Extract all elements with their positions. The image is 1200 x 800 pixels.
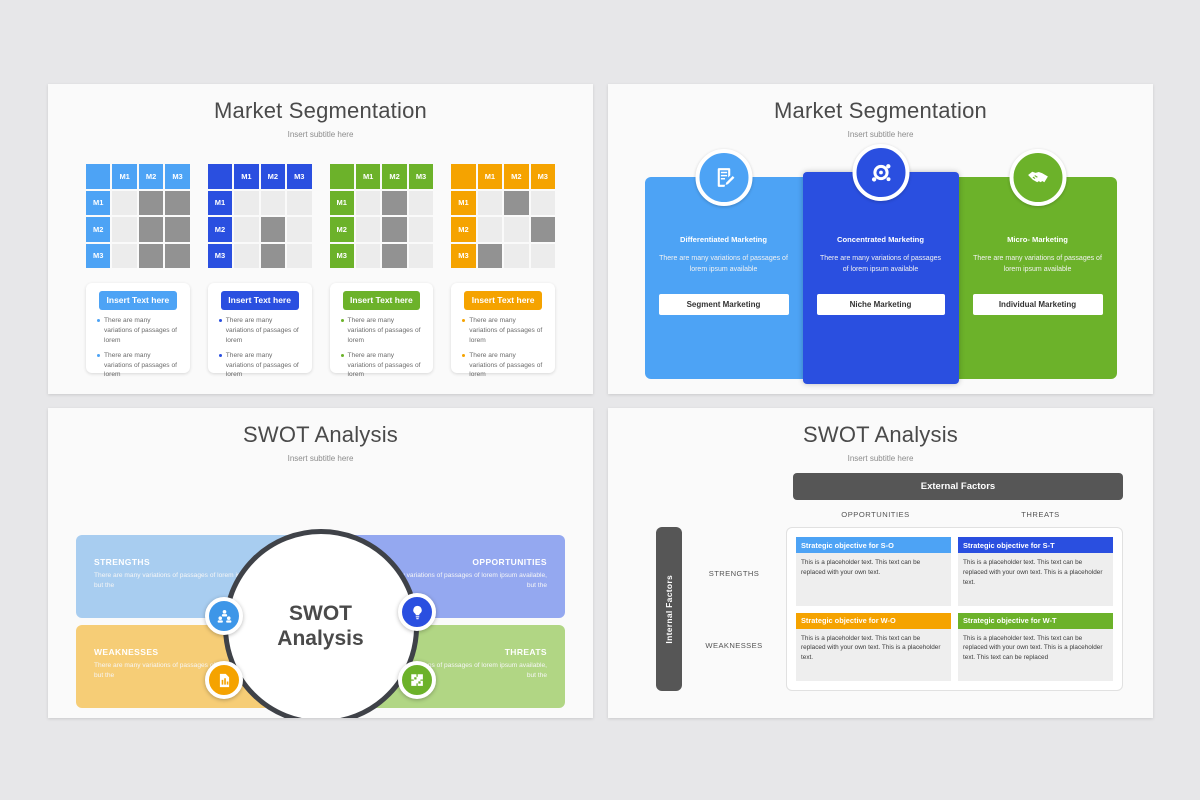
column-heading: Concentrated Marketing (817, 235, 945, 244)
bullet-dot-icon (341, 319, 344, 322)
tows-cell-header: Strategic objective for S-T (958, 537, 1113, 553)
people-group-icon[interactable] (205, 597, 243, 635)
matrix-cell-filled[interactable] (382, 191, 406, 216)
swot-center-circle: SWOT Analysis (223, 529, 419, 718)
lightbulb-target-icon[interactable] (398, 593, 436, 631)
matrix-cell-empty[interactable] (478, 217, 502, 242)
column-description: There are many variations of passages of… (659, 254, 789, 276)
matrix-cell-empty[interactable] (112, 191, 136, 216)
slide-tows-matrix: SWOT Analysis Insert subtitle here Exter… (608, 408, 1153, 718)
matrix-column-header: M3 (287, 164, 311, 189)
matrix-cell-empty[interactable] (409, 244, 433, 269)
bullet-dot-icon (97, 319, 100, 322)
matrix-column-header: M3 (409, 164, 433, 189)
matrix-row-header: M3 (330, 244, 354, 269)
bullet-item: There are many variations of passages of… (97, 316, 179, 346)
page-title: SWOT Analysis (48, 408, 593, 448)
column-heading: Differentiated Marketing (659, 235, 789, 244)
matrix-column-header: M1 (234, 164, 258, 189)
tows-cell-header: Strategic objective for W-O (796, 613, 951, 629)
matrix-cell-empty[interactable] (409, 217, 433, 242)
matrix-column-header: M1 (356, 164, 380, 189)
segmentation-group: M1M2M3M1M2M3Insert Text hereThere are ma… (86, 164, 190, 373)
bullet-item: There are many variations of passages of… (219, 351, 301, 381)
column-pill-button[interactable]: Niche Marketing (817, 294, 945, 315)
matrix-cell-filled[interactable] (165, 191, 189, 216)
page-title: Market Segmentation (608, 84, 1153, 124)
segmentation-group: M1M2M3M1M2M3Insert Text hereThere are ma… (330, 164, 434, 373)
insert-text-button[interactable]: Insert Text here (221, 291, 299, 310)
tows-container: External Factors OPPORTUNITIESTHREATS In… (608, 473, 1153, 691)
matrix-row-header: M3 (86, 244, 110, 269)
bullet-dot-icon (219, 319, 222, 322)
matrix-row-header: M1 (208, 191, 232, 216)
matrix-cell-filled[interactable] (382, 217, 406, 242)
marketing-column: Micro- MarketingThere are many variation… (959, 177, 1117, 379)
clipboard-pen-icon (695, 149, 752, 206)
puzzle-gear-icon[interactable] (398, 661, 436, 699)
document-chart-icon[interactable] (205, 661, 243, 699)
tows-cells: Strategic objective for S-OThis is a pla… (786, 527, 1123, 691)
matrix-column-header: M2 (504, 164, 528, 189)
bullet-dot-icon (341, 354, 344, 357)
target-network-icon (852, 144, 909, 201)
bullet-item: There are many variations of passages of… (462, 316, 544, 346)
tows-cell-s-t[interactable]: Strategic objective for S-TThis is a pla… (958, 537, 1113, 606)
marketing-column: Differentiated MarketingThere are many v… (645, 177, 803, 379)
handshake-icon (1009, 149, 1066, 206)
segmentation-matrix: M1M2M3M1M2M3 (451, 164, 555, 268)
matrix-cell-empty[interactable] (504, 217, 528, 242)
internal-factors-bar: Internal Factors (656, 527, 682, 691)
matrix-cell-empty[interactable] (261, 191, 285, 216)
segmentation-matrix: M1M2M3M1M2M3 (208, 164, 312, 268)
matrix-corner-cell (86, 164, 110, 189)
matrix-corner-cell (451, 164, 475, 189)
swot-center-line2: Analysis (277, 627, 363, 652)
insert-text-button[interactable]: Insert Text here (343, 291, 421, 310)
matrix-column-header: M3 (531, 164, 555, 189)
bullet-dot-icon (219, 354, 222, 357)
tows-cell-w-o[interactable]: Strategic objective for W-OThis is a pla… (796, 613, 951, 682)
slide-swot-circle: SWOT Analysis Insert subtitle here SWOT … (48, 408, 593, 718)
tows-column-header: THREATS (958, 510, 1123, 519)
matrix-cell-empty[interactable] (112, 244, 136, 269)
matrix-cell-empty[interactable] (356, 191, 380, 216)
column-heading: Micro- Marketing (973, 235, 1103, 244)
page-title: SWOT Analysis (608, 408, 1153, 448)
bullet-item: There are many variations of passages of… (219, 316, 301, 346)
matrix-cell-filled[interactable] (261, 217, 285, 242)
segmentation-group: M1M2M3M1M2M3Insert Text hereThere are ma… (451, 164, 555, 373)
matrix-cell-empty[interactable] (356, 217, 380, 242)
matrix-column-header: M1 (478, 164, 502, 189)
matrix-cell-empty[interactable] (356, 244, 380, 269)
bullet-item: There are many variations of passages of… (97, 351, 179, 381)
bullet-list: There are many variations of passages of… (339, 310, 425, 380)
segmentation-card: Insert Text hereThere are many variation… (451, 283, 555, 373)
matrix-row-header: M3 (208, 244, 232, 269)
matrix-column-header: M3 (165, 164, 189, 189)
matrix-cell-filled[interactable] (139, 217, 163, 242)
matrix-corner-cell (330, 164, 354, 189)
matrix-cell-filled[interactable] (531, 217, 555, 242)
matrix-cell-empty[interactable] (112, 217, 136, 242)
column-description: There are many variations of passages of… (817, 254, 945, 276)
matrix-corner-cell (208, 164, 232, 189)
tows-row-headers: STRENGTHSWEAKNESSES (682, 527, 786, 691)
matrix-row-header: M2 (86, 217, 110, 242)
insert-text-button[interactable]: Insert Text here (99, 291, 177, 310)
swot-diagram: SWOT Analysis STRENGTHSThere are many va… (48, 473, 593, 708)
tows-cell-body: This is a placeholder text. This text ca… (796, 553, 951, 578)
matrix-row-header: M2 (208, 217, 232, 242)
column-pill-button[interactable]: Segment Marketing (659, 294, 789, 315)
tows-column-header: OPPORTUNITIES (793, 510, 958, 519)
matrix-row-header: M1 (86, 191, 110, 216)
matrix-cell-empty[interactable] (234, 244, 258, 269)
matrix-cell-filled[interactable] (165, 244, 189, 269)
matrix-cell-empty[interactable] (234, 191, 258, 216)
page-subtitle: Insert subtitle here (608, 124, 1153, 139)
segmentation-group: M1M2M3M1M2M3Insert Text hereThere are ma… (208, 164, 312, 373)
matrix-cell-empty[interactable] (531, 244, 555, 269)
bullet-item: There are many variations of passages of… (341, 351, 423, 381)
bullet-dot-icon (462, 319, 465, 322)
matrix-cell-empty[interactable] (287, 244, 311, 269)
internal-factors-label: Internal Factors (664, 575, 674, 644)
matrix-column-header: M2 (382, 164, 406, 189)
bullet-list: There are many variations of passages of… (217, 310, 303, 380)
marketing-columns: Differentiated MarketingThere are many v… (608, 139, 1153, 384)
matrix-cell-filled[interactable] (382, 244, 406, 269)
matrix-cell-filled[interactable] (139, 191, 163, 216)
column-description: There are many variations of passages of… (973, 254, 1103, 276)
segmentation-groups: M1M2M3M1M2M3Insert Text hereThere are ma… (48, 139, 593, 373)
bullet-list: There are many variations of passages of… (460, 310, 546, 380)
matrix-cell-empty[interactable] (234, 217, 258, 242)
segmentation-matrix: M1M2M3M1M2M3 (330, 164, 434, 268)
page-subtitle: Insert subtitle here (48, 448, 593, 463)
tows-body: Internal Factors STRENGTHSWEAKNESSES Str… (638, 527, 1123, 691)
matrix-column-header: M2 (261, 164, 285, 189)
bullet-item: There are many variations of passages of… (462, 351, 544, 381)
matrix-cell-filled[interactable] (165, 217, 189, 242)
tows-cell-body: This is a placeholder text. This text ca… (958, 553, 1113, 588)
matrix-cell-empty[interactable] (478, 191, 502, 216)
swot-center-line1: SWOT (289, 602, 352, 627)
matrix-row-header: M1 (330, 191, 354, 216)
tows-column-headers: OPPORTUNITIESTHREATS (793, 510, 1123, 519)
page-subtitle: Insert subtitle here (48, 124, 593, 139)
slide-market-segmentation-grid: Market Segmentation Insert subtitle here… (48, 84, 593, 394)
page-subtitle: Insert subtitle here (608, 448, 1153, 463)
tows-cell-header: Strategic objective for W-T (958, 613, 1113, 629)
matrix-row-header: M2 (330, 217, 354, 242)
segmentation-card: Insert Text hereThere are many variation… (330, 283, 434, 373)
bullet-item: There are many variations of passages of… (341, 316, 423, 346)
matrix-cell-filled[interactable] (261, 244, 285, 269)
tows-row-header: WEAKNESSES (682, 641, 786, 650)
matrix-column-header: M1 (112, 164, 136, 189)
matrix-cell-filled[interactable] (139, 244, 163, 269)
bullet-dot-icon (462, 354, 465, 357)
tows-cell-body: This is a placeholder text. This text ca… (796, 629, 951, 664)
matrix-cell-empty[interactable] (531, 191, 555, 216)
matrix-row-header: M1 (451, 191, 475, 216)
matrix-column-header: M2 (139, 164, 163, 189)
tows-cell-w-t[interactable]: Strategic objective for W-TThis is a pla… (958, 613, 1113, 682)
matrix-cell-filled[interactable] (478, 244, 502, 269)
slide-market-segmentation-columns: Market Segmentation Insert subtitle here… (608, 84, 1153, 394)
tows-cell-body: This is a placeholder text. This text ca… (958, 629, 1113, 664)
page-title: Market Segmentation (48, 84, 593, 124)
marketing-column: Concentrated MarketingThere are many var… (803, 172, 959, 384)
slide-board: Market Segmentation Insert subtitle here… (0, 0, 1200, 800)
tows-cell-s-o[interactable]: Strategic objective for S-OThis is a pla… (796, 537, 951, 606)
segmentation-card: Insert Text hereThere are many variation… (208, 283, 312, 373)
segmentation-matrix: M1M2M3M1M2M3 (86, 164, 190, 268)
matrix-cell-empty[interactable] (409, 191, 433, 216)
matrix-row-header: M2 (451, 217, 475, 242)
tows-row-header: STRENGTHS (682, 569, 786, 578)
matrix-cell-empty[interactable] (287, 217, 311, 242)
segmentation-card: Insert Text hereThere are many variation… (86, 283, 190, 373)
matrix-cell-empty[interactable] (504, 244, 528, 269)
matrix-row-header: M3 (451, 244, 475, 269)
bullet-list: There are many variations of passages of… (95, 310, 181, 380)
tows-cell-header: Strategic objective for S-O (796, 537, 951, 553)
matrix-cell-filled[interactable] (504, 191, 528, 216)
column-pill-button[interactable]: Individual Marketing (973, 294, 1103, 315)
bullet-dot-icon (97, 354, 100, 357)
insert-text-button[interactable]: Insert Text here (464, 291, 542, 310)
external-factors-bar: External Factors (793, 473, 1123, 500)
matrix-cell-empty[interactable] (287, 191, 311, 216)
